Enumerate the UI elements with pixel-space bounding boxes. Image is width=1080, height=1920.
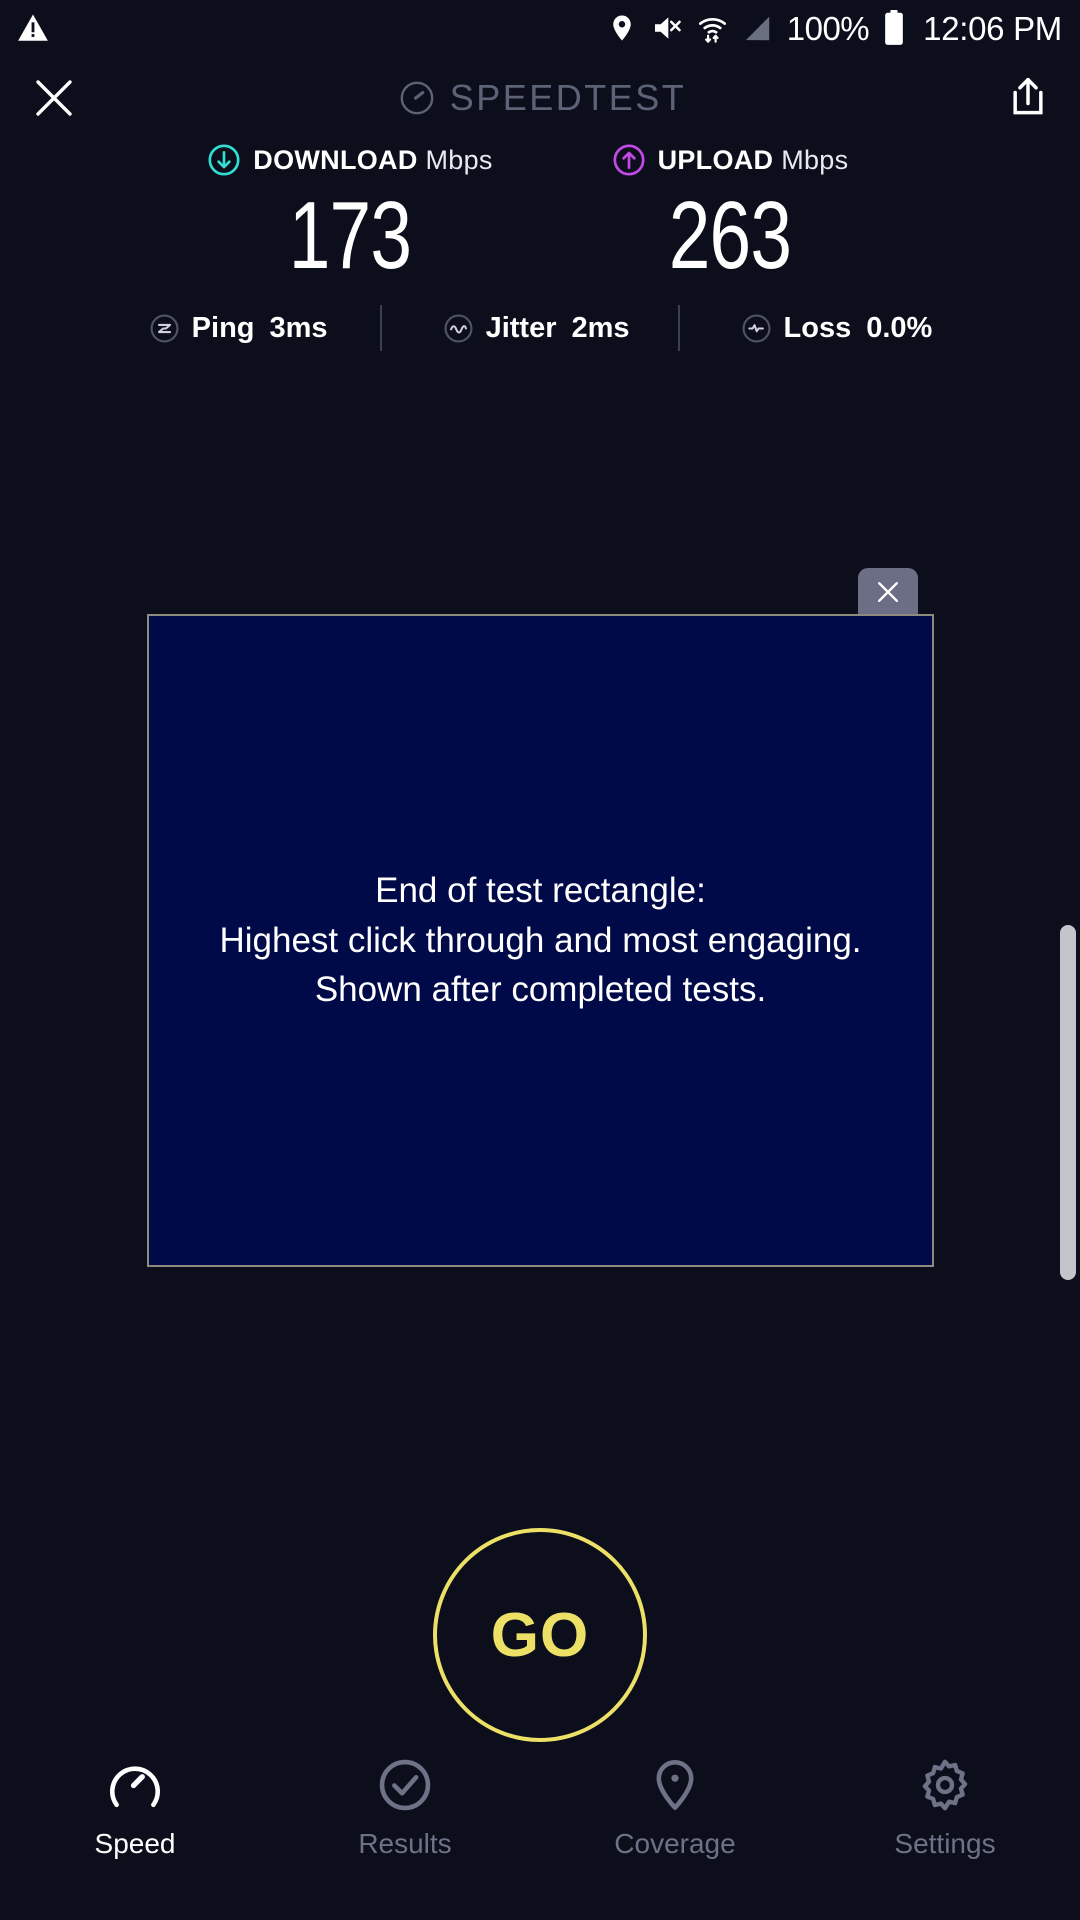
upload-label: UPLOAD Mbps: [658, 145, 849, 176]
settings-gear-icon: [916, 1756, 974, 1814]
share-icon[interactable]: [1006, 74, 1050, 122]
nav-item-coverage[interactable]: Coverage: [540, 1730, 810, 1920]
download-value: 173: [202, 188, 498, 284]
upload-value: 263: [582, 188, 878, 284]
status-bar-left: [16, 11, 50, 45]
ad-text-line-1: End of test rectangle:: [219, 866, 861, 916]
nav-item-speed[interactable]: Speed: [0, 1730, 270, 1920]
nav-item-settings[interactable]: Settings: [810, 1730, 1080, 1920]
ad-text-line-3: Shown after completed tests.: [219, 965, 861, 1015]
ad-text-line-2: Highest click through and most engaging.: [219, 916, 861, 966]
warning-triangle-icon: [16, 11, 50, 45]
go-button-label: GO: [491, 1600, 589, 1671]
nav-label-coverage: Coverage: [614, 1828, 735, 1860]
battery-full-icon: [883, 10, 905, 46]
nav-item-results[interactable]: Results: [270, 1730, 540, 1920]
vertical-scrollbar[interactable]: [1060, 925, 1076, 1280]
upload-header: UPLOAD Mbps: [540, 140, 920, 180]
download-arrow-icon: [207, 143, 241, 177]
nav-label-speed: Speed: [95, 1828, 176, 1860]
advertisement-banner[interactable]: End of test rectangle: Highest click thr…: [147, 614, 934, 1267]
status-bar: 100% 12:06 PM: [0, 0, 1080, 56]
location-pin-icon: [607, 13, 637, 43]
loss-icon: [740, 312, 773, 345]
clock-label: 12:06 PM: [923, 12, 1062, 45]
nav-label-settings: Settings: [894, 1828, 995, 1860]
metric-jitter: Jitter 2ms: [442, 312, 630, 345]
metric-divider: [678, 305, 680, 351]
upload-result: UPLOAD Mbps 263: [540, 140, 920, 284]
jitter-label: Jitter: [486, 312, 557, 345]
app-bar: SPEEDTEST: [0, 56, 1080, 140]
network-metrics-row: Ping 3ms Jitter 2ms: [0, 305, 1080, 351]
speedtest-app-screen: 100% 12:06 PM SPEEDTEST: [0, 0, 1080, 1920]
results-row: DOWNLOAD Mbps 173 UPLOAD Mbps 263: [0, 140, 1080, 284]
cellular-signal-icon: [742, 13, 773, 44]
results-summary: DOWNLOAD Mbps 173 UPLOAD Mbps 263: [0, 140, 1080, 284]
download-label: DOWNLOAD Mbps: [253, 145, 492, 176]
page-title: SPEEDTEST: [450, 77, 687, 119]
app-title-block: SPEEDTEST: [78, 77, 1006, 119]
metric-ping: Ping 3ms: [148, 312, 328, 345]
battery-percent-label: 100%: [787, 12, 869, 45]
ad-close-icon[interactable]: [858, 568, 918, 616]
ping-label: Ping: [192, 312, 255, 345]
go-button[interactable]: GO: [433, 1528, 647, 1742]
wifi-icon: [697, 13, 728, 44]
ping-value: 3ms: [270, 312, 328, 345]
loss-label: Loss: [784, 312, 852, 345]
upload-arrow-icon: [612, 143, 646, 177]
jitter-value: 2ms: [571, 312, 629, 345]
bottom-navigation-bar: Speed Results Coverage: [0, 1730, 1080, 1920]
download-result: DOWNLOAD Mbps 173: [160, 140, 540, 284]
advertisement-container: End of test rectangle: Highest click thr…: [147, 614, 934, 1267]
coverage-pin-icon: [646, 1756, 704, 1814]
ad-text: End of test rectangle: Highest click thr…: [199, 866, 881, 1015]
volume-muted-icon: [651, 12, 683, 44]
metric-loss: Loss 0.0%: [740, 312, 933, 345]
ping-icon: [148, 312, 181, 345]
download-header: DOWNLOAD Mbps: [160, 140, 540, 180]
close-icon[interactable]: [30, 74, 78, 122]
speed-gauge-icon: [106, 1756, 164, 1814]
nav-label-results: Results: [358, 1828, 451, 1860]
results-check-icon: [376, 1756, 434, 1814]
loss-value: 0.0%: [866, 312, 932, 345]
speedtest-gauge-icon: [398, 79, 436, 117]
status-bar-right: 100% 12:06 PM: [607, 10, 1062, 46]
jitter-icon: [442, 312, 475, 345]
metric-divider: [380, 305, 382, 351]
